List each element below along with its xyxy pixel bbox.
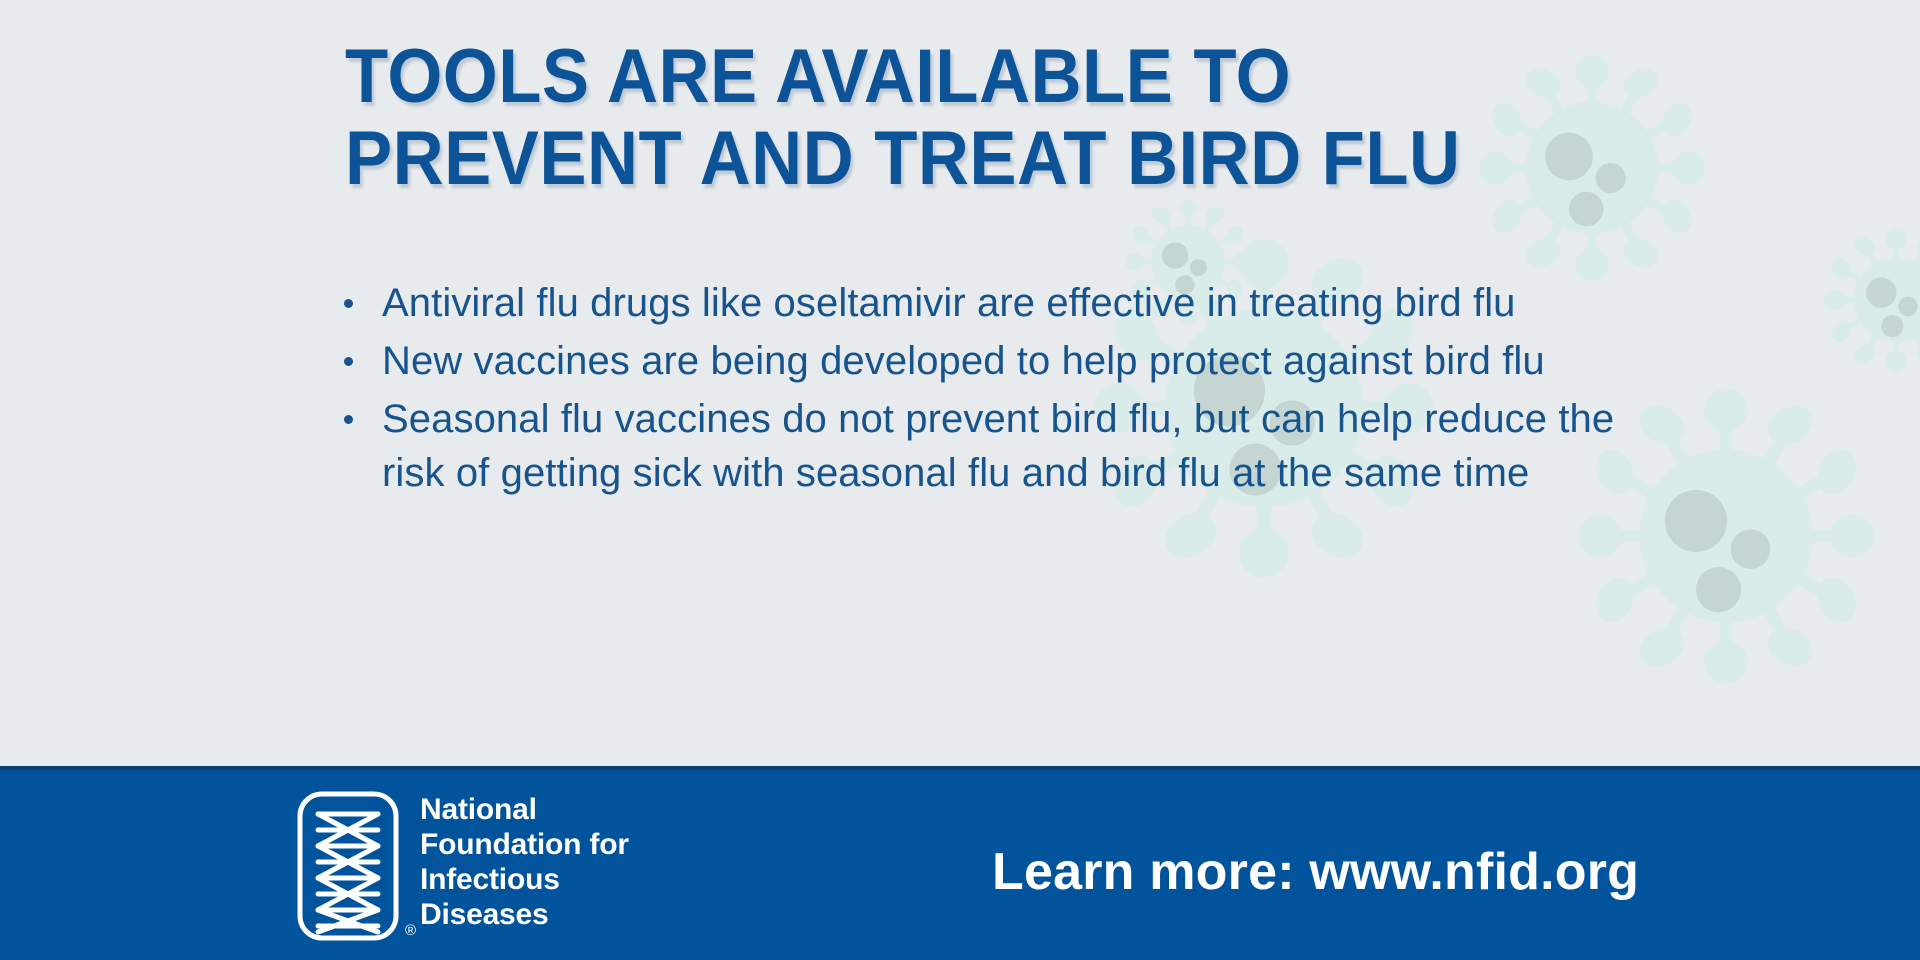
bird-flu-infographic: TOOLS ARE AVAILABLE TO PREVENT AND TREAT… <box>0 0 1920 960</box>
page-title: TOOLS ARE AVAILABLE TO PREVENT AND TREAT… <box>345 36 1575 200</box>
nfid-logo-lockup[interactable]: ® National Foundation for Infectious Dis… <box>296 790 629 942</box>
nfid-dna-helix-logo-icon: ® <box>296 790 400 942</box>
title-line-1: TOOLS ARE AVAILABLE TO <box>345 36 1489 118</box>
list-item: New vaccines are being developed to help… <box>330 334 1620 388</box>
wordmark-line-1: National <box>420 792 629 827</box>
key-points-list: Antiviral flu drugs like oseltamivir are… <box>330 276 1620 504</box>
registered-trademark-icon: ® <box>405 923 416 938</box>
bullet-dot-icon <box>344 415 353 424</box>
poster-content: TOOLS ARE AVAILABLE TO PREVENT AND TREAT… <box>0 0 1920 766</box>
title-line-2: PREVENT AND TREAT BIRD FLU <box>345 118 1489 200</box>
list-item-text: New vaccines are being developed to help… <box>382 339 1545 383</box>
bullet-dot-icon <box>344 357 353 366</box>
wordmark-line-4: Diseases <box>420 897 629 932</box>
list-item-text: Antiviral flu drugs like oseltamivir are… <box>382 281 1516 325</box>
list-item-text: Seasonal flu vaccines do not prevent bir… <box>382 397 1614 495</box>
bullet-dot-icon <box>344 299 353 308</box>
list-item: Antiviral flu drugs like oseltamivir are… <box>330 276 1620 330</box>
wordmark-line-3: Infectious <box>420 862 629 897</box>
footer-bar: ® National Foundation for Infectious Dis… <box>0 766 1920 960</box>
wordmark-line-2: Foundation for <box>420 827 629 862</box>
list-item: Seasonal flu vaccines do not prevent bir… <box>330 392 1620 500</box>
learn-more-link[interactable]: Learn more: www.nfid.org <box>992 844 1639 900</box>
nfid-wordmark: National Foundation for Infectious Disea… <box>420 792 629 932</box>
